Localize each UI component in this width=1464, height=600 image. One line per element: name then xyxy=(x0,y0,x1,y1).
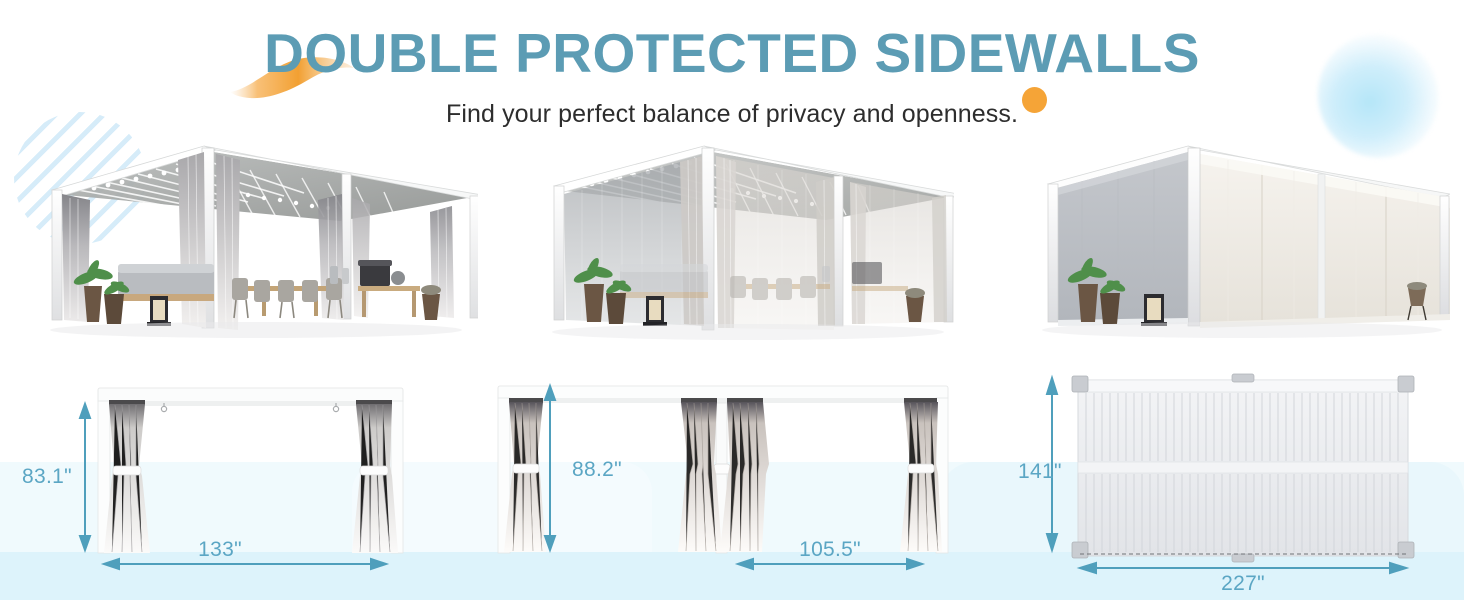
product-photo-row xyxy=(0,138,1464,346)
subtitle-wrapper: Find your perfect balance of privacy and… xyxy=(0,100,1464,129)
header: DOUBLE PROTECTED SIDEWALLS Find your per… xyxy=(0,0,1464,129)
dimension-height-label-2: 88.2" xyxy=(572,458,622,481)
page-subtitle: Find your perfect balance of privacy and… xyxy=(446,100,1018,129)
dimension-drawing-row: 83.1" 133" xyxy=(0,368,1464,600)
dimension-width-label-3: 227" xyxy=(1221,572,1265,595)
dimension-height-label-1: 83.1" xyxy=(22,465,72,488)
dimension-width-label-1: 133" xyxy=(198,538,242,561)
pergola-photo-mesh-screens xyxy=(534,138,954,346)
pergola-elevation-mesh-screens: 88.2" 105.5" xyxy=(480,368,960,600)
pergola-elevation-closed-sidewalls: 141" 227" xyxy=(1020,368,1464,600)
pergola-photo-closed-sidewalls xyxy=(1022,138,1450,346)
page-title: DOUBLE PROTECTED SIDEWALLS xyxy=(0,26,1464,81)
infographic-stage: DOUBLE PROTECTED SIDEWALLS Find your per… xyxy=(0,0,1464,600)
pergola-elevation-curtains-open: 83.1" 133" xyxy=(0,368,440,600)
pergola-photo-curtains-open xyxy=(26,138,478,346)
dimension-height-label-3: 141" xyxy=(1018,460,1062,483)
dimension-width-label-2: 105.5" xyxy=(799,538,861,561)
orange-dot-icon xyxy=(1022,87,1047,113)
